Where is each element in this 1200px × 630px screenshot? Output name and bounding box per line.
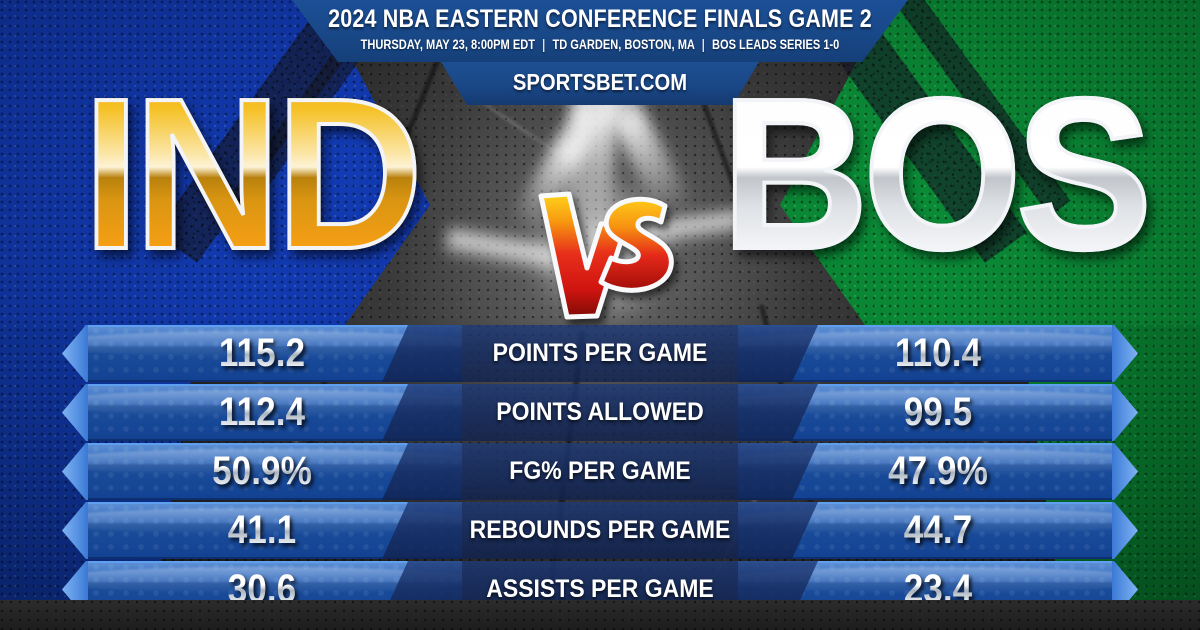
vs-icon [527, 182, 677, 322]
series-status: BOS LEADS SERIES 1-0 [712, 37, 839, 52]
brand-banner: SPORTSBET.COM [441, 62, 759, 105]
home-panel-point [1112, 325, 1138, 382]
stat-label: POINTS PER GAME [399, 325, 800, 382]
stat-label: FG% PER GAME [399, 443, 800, 500]
matchup-graphic: 2024 NBA EASTERN CONFERENCE FINALS GAME … [0, 0, 1200, 630]
stat-label: REBOUNDS PER GAME [399, 502, 800, 559]
detail-separator: | [698, 37, 709, 52]
home-team-abbr: BOS [721, 66, 1147, 281]
stats-table: 115.2 POINTS PER GAME 110.4 112.4 POINTS… [0, 325, 1200, 620]
away-panel-point [62, 502, 88, 559]
away-panel-point [62, 325, 88, 382]
away-panel-point [62, 443, 88, 500]
home-panel-point [1112, 502, 1138, 559]
home-panel-point [1112, 384, 1138, 441]
game-details: THURSDAY, MAY 23, 8:00PM EDT | TD GARDEN… [310, 37, 891, 52]
game-venue: TD GARDEN, BOSTON, MA [552, 37, 694, 52]
table-row: 41.1 REBOUNDS PER GAME 44.7 [0, 502, 1200, 559]
detail-separator: | [538, 37, 549, 52]
page-title: 2024 NBA EASTERN CONFERENCE FINALS GAME … [296, 5, 905, 34]
away-panel-point [62, 384, 88, 441]
footer-strip [0, 600, 1200, 630]
versus-emblem [527, 182, 677, 322]
table-row: 115.2 POINTS PER GAME 110.4 [0, 325, 1200, 382]
stat-label: POINTS ALLOWED [399, 384, 800, 441]
home-panel-point [1112, 443, 1138, 500]
game-datetime: THURSDAY, MAY 23, 8:00PM EDT [361, 37, 535, 52]
brand-name: SPORTSBET.COM [460, 69, 740, 96]
table-row: 50.9% FG% PER GAME 47.9% [0, 443, 1200, 500]
table-row: 112.4 POINTS ALLOWED 99.5 [0, 384, 1200, 441]
away-team-abbr: IND [83, 66, 418, 281]
